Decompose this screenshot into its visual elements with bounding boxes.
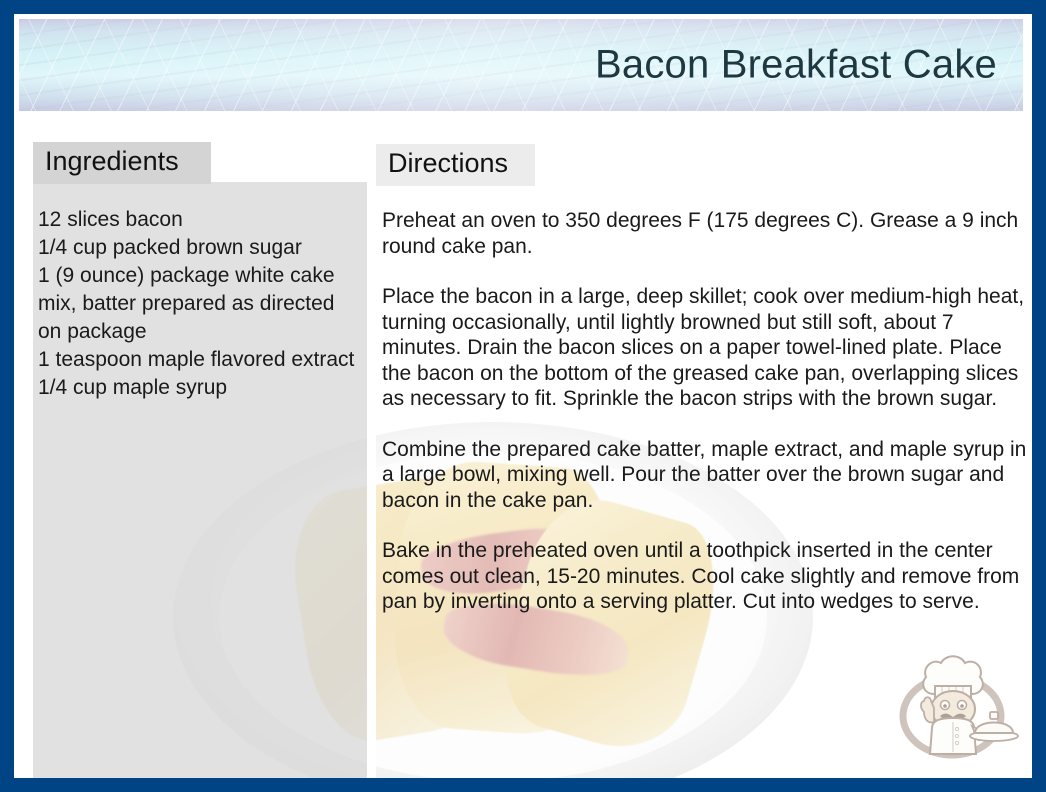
ingredient-item: 12 slices bacon [38,206,363,234]
page-title: Bacon Breakfast Cake [595,43,997,88]
ingredients-list: 12 slices bacon 1/4 cup packed brown sug… [38,206,363,402]
panel-gutter [367,182,376,779]
ingredient-item: 1/4 cup packed brown sugar [38,234,363,262]
chef-logo [894,646,1020,764]
direction-step: Bake in the preheated oven until a tooth… [382,538,1030,615]
ingredient-item: 1 teaspoon maple flavored extract [38,346,363,374]
section-heading-directions: Directions [376,144,535,186]
recipe-card: Bacon Breakfast Cake Ingredients [0,0,1046,792]
direction-step: Place the bacon in a large, deep skillet… [382,284,1030,412]
section-heading-ingredients: Ingredients [33,142,211,184]
header-banner: Bacon Breakfast Cake [19,19,1023,111]
direction-step: Combine the prepared cake batter, maple … [382,437,1030,514]
direction-step: Preheat an oven to 350 degrees F (175 de… [382,208,1030,259]
ingredient-item: 1/4 cup maple syrup [38,374,363,402]
directions-body: Preheat an oven to 350 degrees F (175 de… [382,208,1030,615]
ingredient-item: 1 (9 ounce) package white cake mix, batt… [38,262,363,346]
card-inner: Bacon Breakfast Cake Ingredients [14,14,1032,778]
